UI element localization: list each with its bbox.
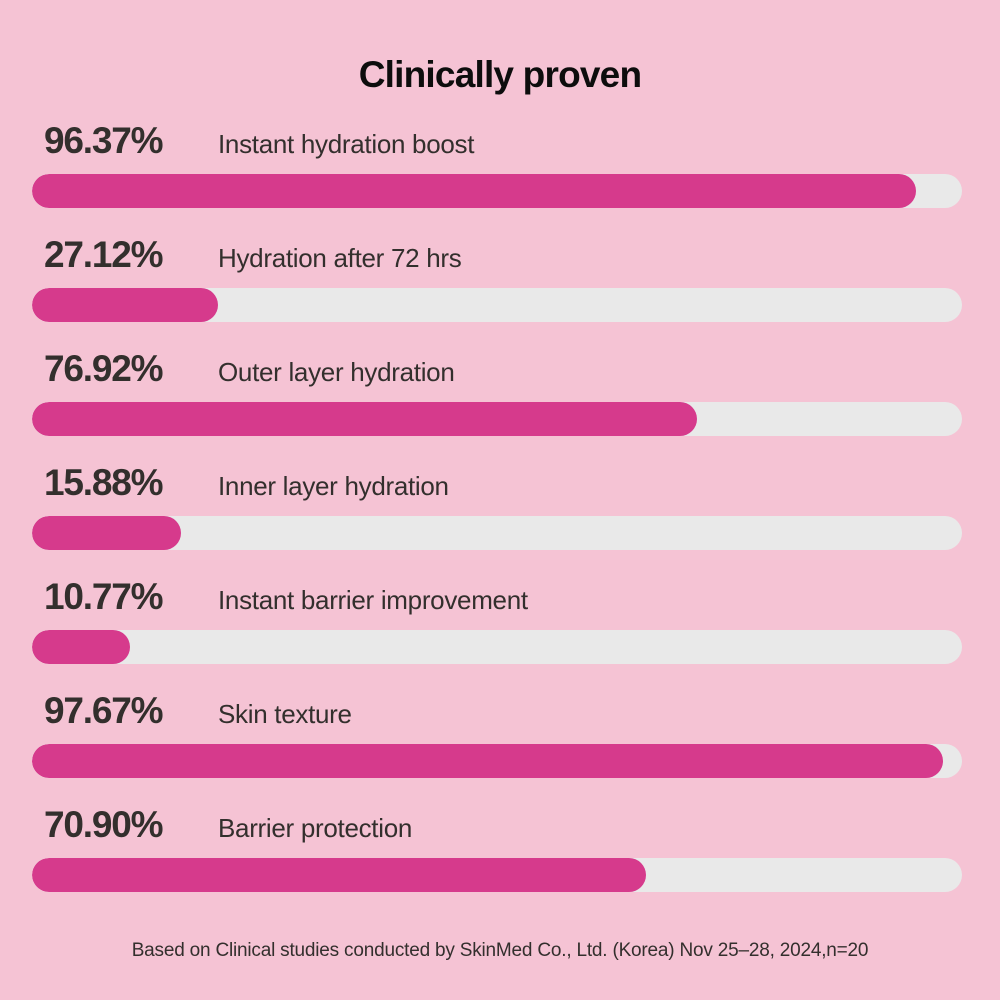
metric-rows-container: 96.37% Instant hydration boost 27.12% Hy… [32,122,968,920]
metric-value: 27.12% [44,236,218,273]
metric-row: 76.92% Outer layer hydration [32,350,968,464]
metric-header: 70.90% Barrier protection [32,806,968,858]
metric-header: 96.37% Instant hydration boost [32,122,968,174]
metric-label: Instant barrier improvement [218,587,528,613]
metric-header: 15.88% Inner layer hydration [32,464,968,516]
metric-header: 76.92% Outer layer hydration [32,350,968,402]
metric-label: Hydration after 72 hrs [218,245,461,271]
metric-header: 10.77% Instant barrier improvement [32,578,968,630]
metric-row: 70.90% Barrier protection [32,806,968,920]
progress-bar-fill [32,858,646,892]
metric-label: Instant hydration boost [218,131,474,157]
progress-bar-track [32,516,962,550]
progress-bar-track [32,858,962,892]
metric-row: 15.88% Inner layer hydration [32,464,968,578]
metric-value: 70.90% [44,806,218,843]
progress-bar-track [32,402,962,436]
metric-value: 10.77% [44,578,218,615]
progress-bar-track [32,744,962,778]
page-title: Clinically proven [32,0,968,93]
progress-bar-fill [32,402,697,436]
progress-bar-track [32,288,962,322]
progress-bar-fill [32,516,181,550]
metric-row: 97.67% Skin texture [32,692,968,806]
clinical-results-infographic: Clinically proven 96.37% Instant hydrati… [0,0,1000,1000]
metric-value: 76.92% [44,350,218,387]
metric-label: Barrier protection [218,815,412,841]
progress-bar-fill [32,630,130,664]
metric-label: Skin texture [218,701,352,727]
metric-value: 96.37% [44,122,218,159]
study-footnote: Based on Clinical studies conducted by S… [0,940,1000,962]
metric-label: Outer layer hydration [218,359,455,385]
metric-row: 27.12% Hydration after 72 hrs [32,236,968,350]
progress-bar-fill [32,288,218,322]
metric-row: 10.77% Instant barrier improvement [32,578,968,692]
metric-value: 97.67% [44,692,218,729]
metric-header: 27.12% Hydration after 72 hrs [32,236,968,288]
progress-bar-track [32,174,962,208]
metric-row: 96.37% Instant hydration boost [32,122,968,236]
progress-bar-track [32,630,962,664]
progress-bar-fill [32,174,916,208]
progress-bar-fill [32,744,943,778]
metric-value: 15.88% [44,464,218,501]
metric-label: Inner layer hydration [218,473,449,499]
metric-header: 97.67% Skin texture [32,692,968,744]
